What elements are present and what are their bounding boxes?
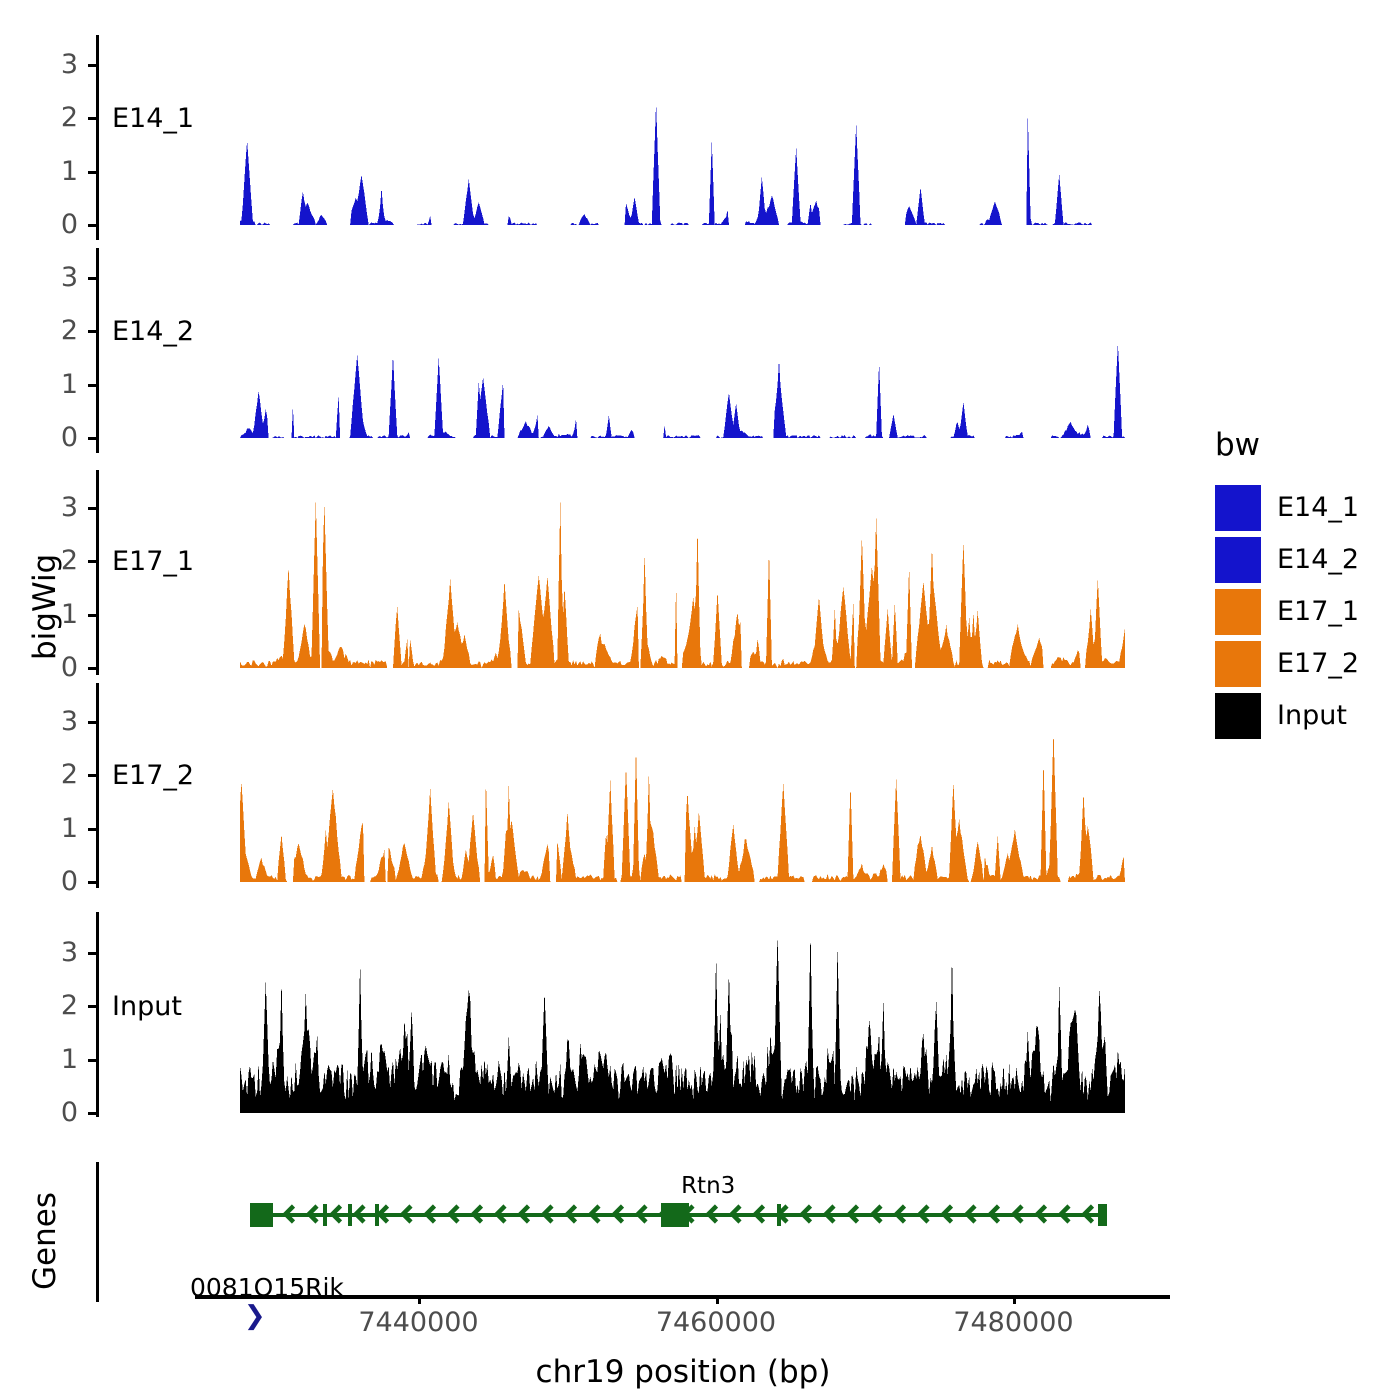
legend-item-e17_1[interactable]: E17_1 (1215, 589, 1400, 641)
legend-item-e14_2[interactable]: E14_2 (1215, 537, 1400, 589)
y-axis-line (96, 912, 99, 1117)
legend-swatch (1215, 537, 1261, 583)
genes-panel: Rtn30081O15Rik❯ (0, 1155, 1200, 1305)
gene-models: Rtn30081O15Rik❯ (0, 1155, 1200, 1305)
track-label-input: Input (112, 993, 182, 1020)
gene-exon (250, 1203, 272, 1227)
x-axis: 744000074600007480000 chr19 position (bp… (0, 1295, 1400, 1400)
x-tick (1013, 1295, 1016, 1304)
gene-exon (1098, 1204, 1107, 1226)
y-tick-label: 1 (38, 1046, 78, 1073)
gene-exon (348, 1204, 352, 1226)
y-tick (88, 952, 97, 955)
gene-exon (375, 1204, 379, 1226)
legend-swatch (1215, 485, 1261, 531)
legend-swatch (1215, 641, 1261, 687)
y-tick (88, 1005, 97, 1008)
x-tick (418, 1295, 421, 1304)
legend-swatch (1215, 589, 1261, 635)
gene-label-rtn3: Rtn3 (681, 1175, 735, 1198)
y-tick-label: 3 (38, 939, 78, 966)
legend-label: E17_1 (1277, 598, 1359, 625)
gene-exon (777, 1204, 781, 1226)
x-tick (716, 1295, 719, 1304)
legend-item-e14_1[interactable]: E14_1 (1215, 485, 1400, 537)
y-tick (88, 1059, 97, 1062)
x-tick-label: 7440000 (358, 1309, 478, 1336)
x-tick-group: 744000074600007480000 (0, 1295, 1400, 1355)
y-tick (88, 1112, 97, 1115)
y-tick-label: 2 (38, 992, 78, 1019)
legend-title: bw (1215, 430, 1260, 461)
x-tick-label: 7480000 (953, 1309, 1073, 1336)
gene-exon (661, 1203, 689, 1227)
legend-item-input[interactable]: Input (1215, 693, 1400, 745)
legend-label: E14_2 (1277, 546, 1359, 573)
legend-item-e17_2[interactable]: E17_2 (1215, 641, 1400, 693)
gene-exon (323, 1204, 327, 1226)
genome-browser-figure: bigWig Genes 0123E14_10123E14_20123E17_1… (0, 0, 1400, 1400)
y-tick-label: 0 (38, 1099, 78, 1126)
legend-label: E17_2 (1277, 650, 1359, 677)
signal-area-input (240, 923, 1125, 1113)
legend-label: Input (1277, 702, 1347, 729)
legend-swatch (1215, 693, 1261, 739)
x-axis-title: chr19 position (bp) (536, 1357, 831, 1388)
legend: bw E14_1E14_2E17_1E17_2Input (1215, 430, 1400, 720)
x-tick-label: 7460000 (656, 1309, 776, 1336)
legend-label: E14_1 (1277, 494, 1359, 521)
